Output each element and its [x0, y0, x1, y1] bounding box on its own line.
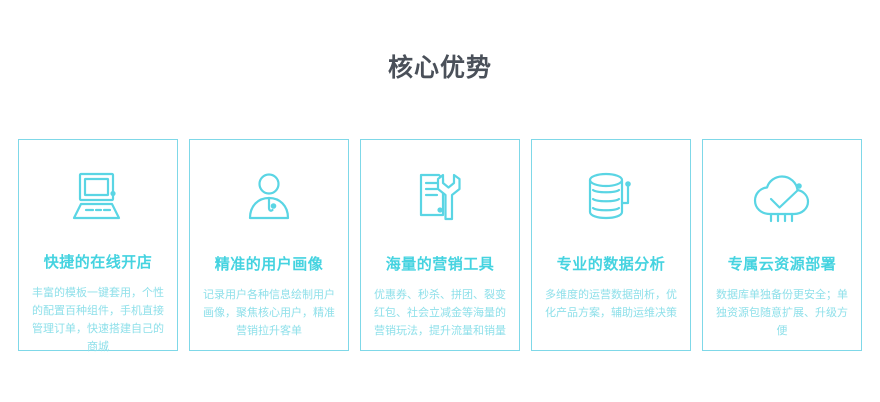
advantage-card[interactable]: 精准的用户画像 记录用户各种信息绘制用户画像，聚焦核心用户，精准营销拉升客单 — [189, 139, 349, 351]
advantage-card-description: 优惠券、秒杀、拼团、裂变红包、社会立减金等海量的营销玩法，提升流量和销量 — [373, 286, 507, 340]
advantage-card[interactable]: 专属云资源部署 数据库单独备份更安全；单独资源包随意扩展、升级方便 — [702, 139, 862, 351]
advantage-card-title: 专属云资源部署 — [728, 255, 837, 275]
advantage-card-title: 快捷的在线开店 — [44, 253, 153, 273]
advantage-card-title: 海量的营销工具 — [386, 255, 495, 275]
document-wrench-icon — [408, 169, 472, 227]
advantage-card-title: 专业的数据分析 — [557, 255, 666, 275]
user-profile-icon — [237, 169, 301, 227]
advantage-card-description: 多维度的运营数据剖析，优化产品方案，辅助运维决策 — [544, 286, 678, 322]
cloud-check-icon — [750, 169, 814, 227]
advantage-card-title: 精准的用户画像 — [215, 255, 324, 275]
page-title: 核心优势 — [0, 52, 880, 84]
advantage-card-description: 记录用户各种信息绘制用户画像，聚焦核心用户，精准营销拉升客单 — [202, 286, 336, 340]
advantage-card-description: 丰富的模板一键套用，个性的配置百种组件，手机直接管理订单，快速搭建自己的商城 — [31, 284, 165, 356]
advantage-card[interactable]: 海量的营销工具 优惠券、秒杀、拼团、裂变红包、社会立减金等海量的营销玩法，提升流… — [360, 139, 520, 351]
advantage-card[interactable]: 专业的数据分析 多维度的运营数据剖析，优化产品方案，辅助运维决策 — [531, 139, 691, 351]
database-icon — [579, 169, 643, 227]
advantage-card-description: 数据库单独备份更安全；单独资源包随意扩展、升级方便 — [715, 286, 849, 340]
advantages-section: 核心优势 快捷的在线开店 丰富的模板一键套用，个性的配置 — [0, 0, 880, 402]
laptop-icon — [66, 169, 130, 225]
advantage-card-list: 快捷的在线开店 丰富的模板一键套用，个性的配置百种组件，手机直接管理订单，快速搭… — [18, 139, 862, 353]
advantage-card[interactable]: 快捷的在线开店 丰富的模板一键套用，个性的配置百种组件，手机直接管理订单，快速搭… — [18, 139, 178, 351]
